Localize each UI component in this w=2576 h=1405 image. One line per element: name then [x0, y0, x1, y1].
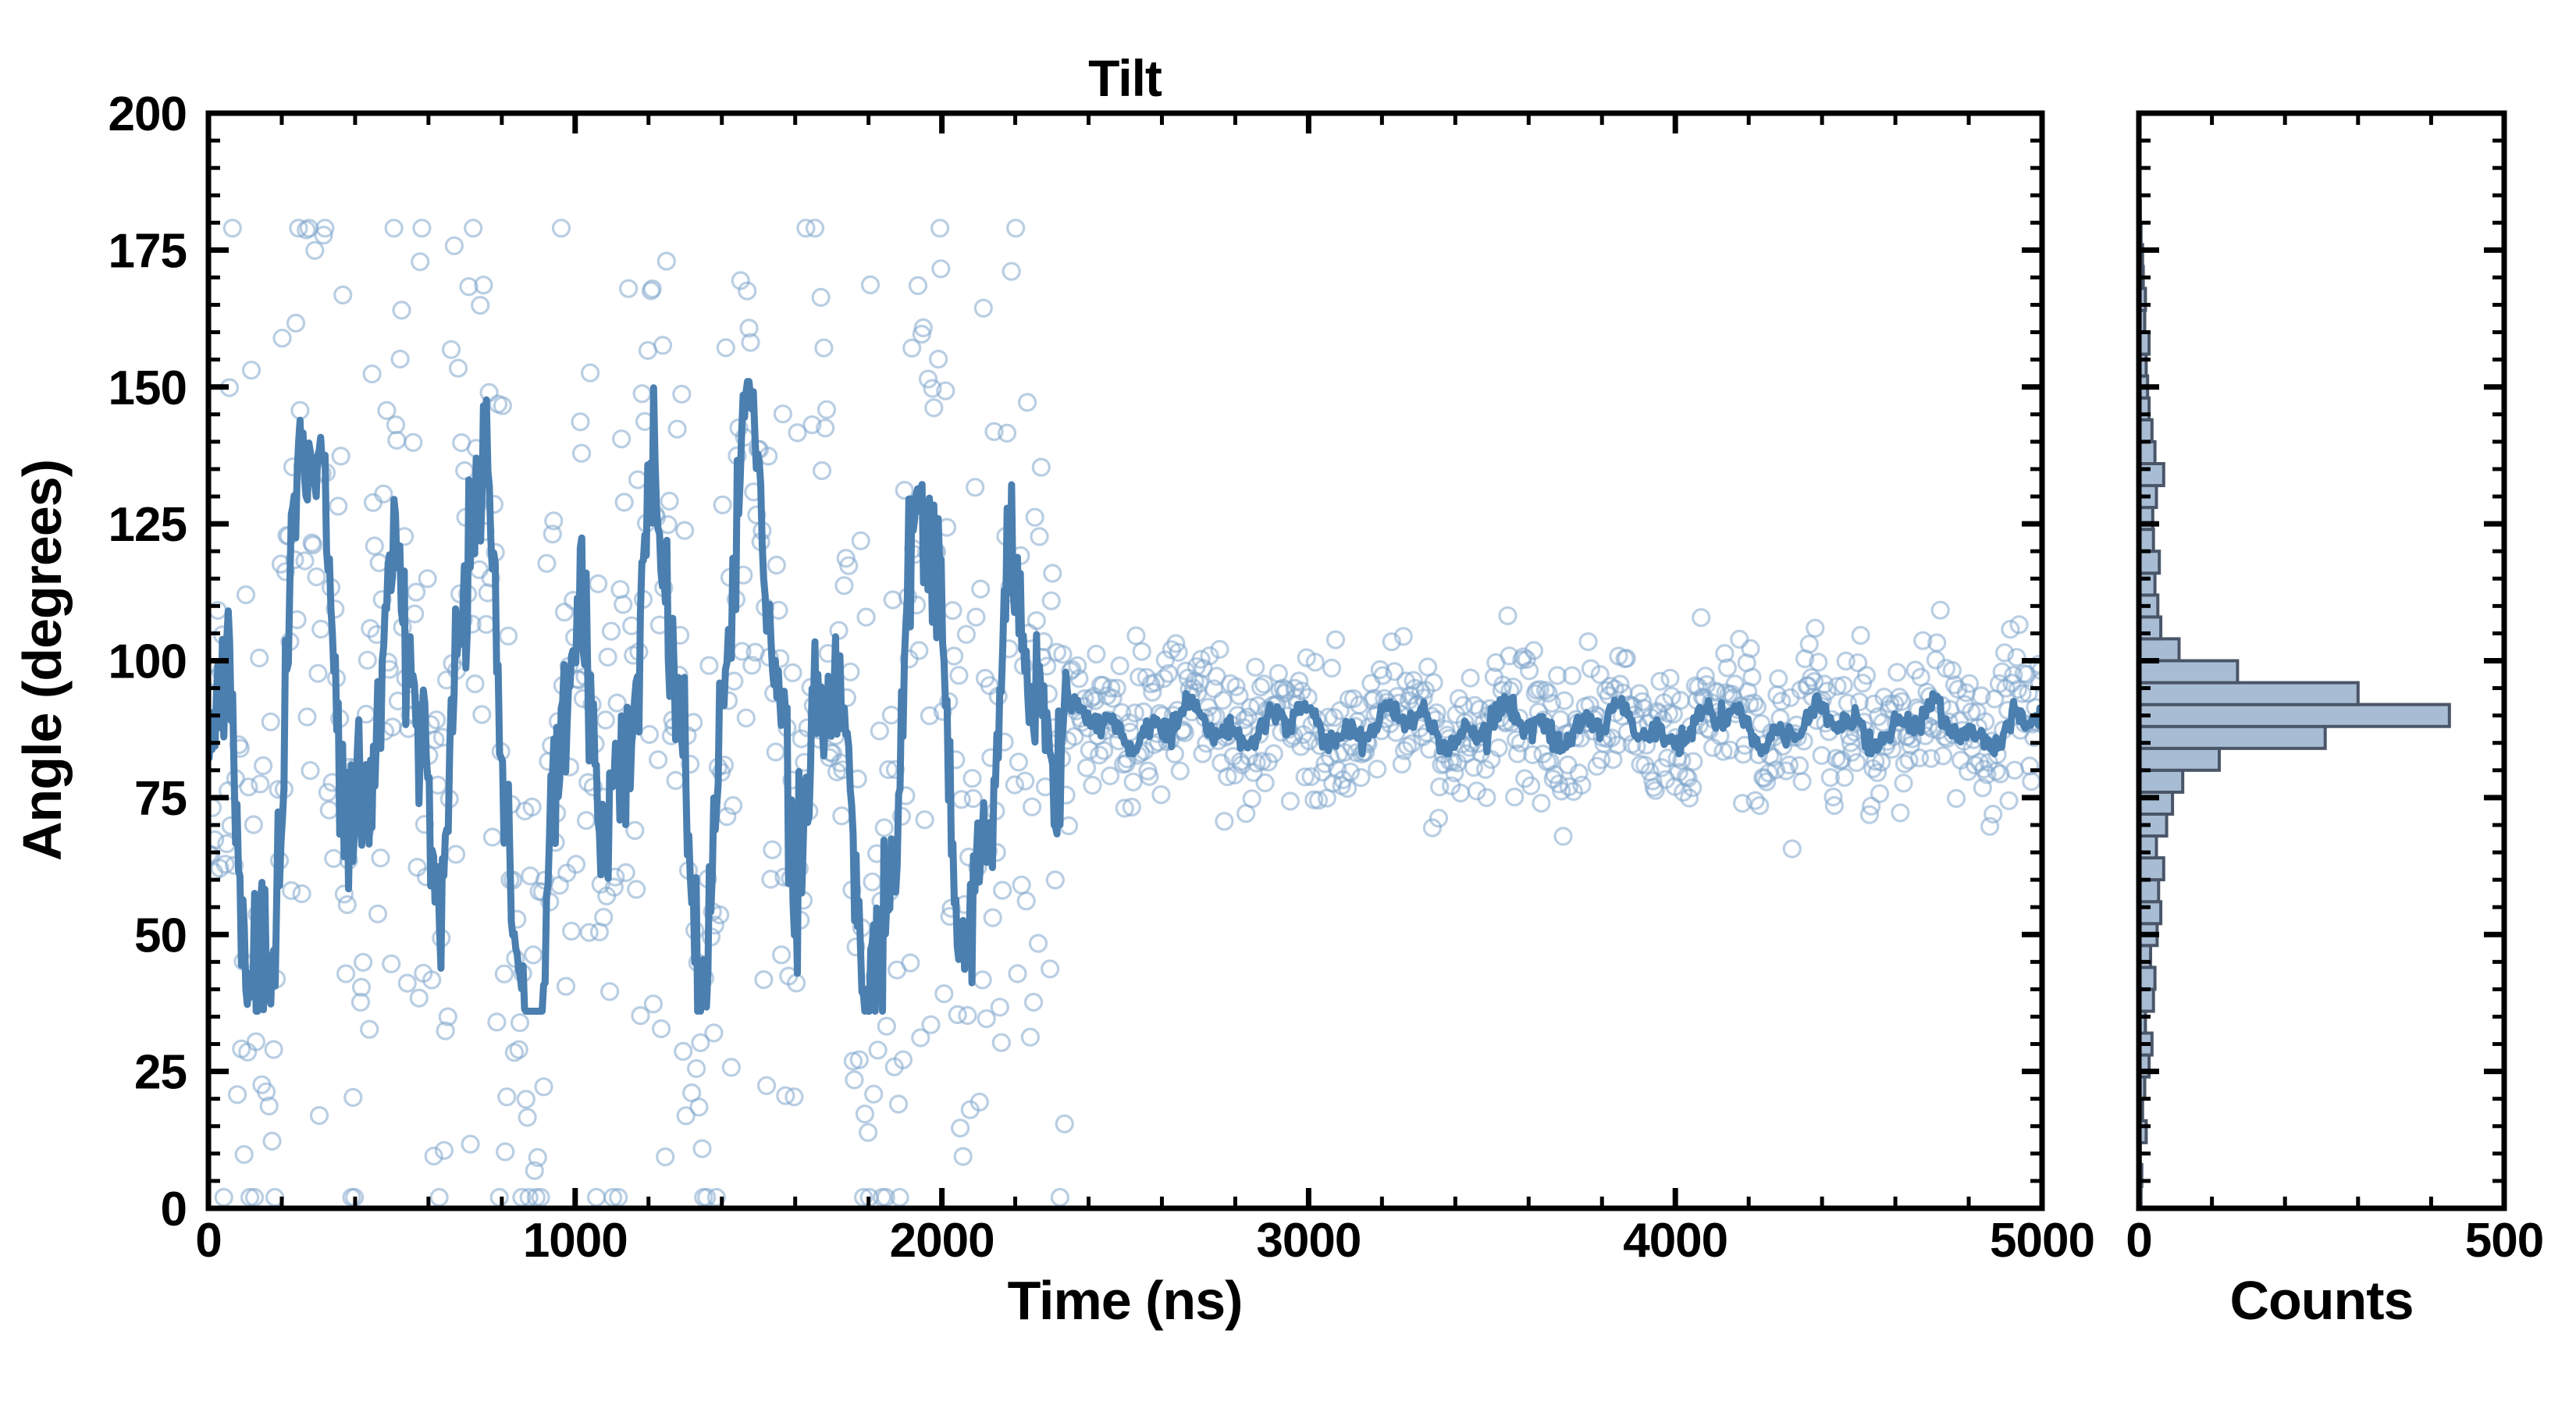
- y-tick-label: 0: [161, 1183, 187, 1236]
- x-tick-label: 2000: [890, 1214, 994, 1268]
- x-tick-label: 5000: [1990, 1214, 2094, 1268]
- x-tick-label: 3000: [1256, 1214, 1361, 1268]
- x-tick-label: 1000: [523, 1214, 628, 1268]
- y-tick-label: 175: [109, 224, 187, 278]
- x-tick-label: 0: [195, 1214, 221, 1268]
- histogram-x-tick-label: 500: [2465, 1214, 2543, 1268]
- histogram-x-tick-label: 0: [2126, 1214, 2151, 1268]
- plot-title: Tilt: [1088, 49, 1162, 107]
- y-tick-label: 200: [109, 87, 187, 141]
- y-tick-label: 25: [134, 1046, 187, 1100]
- plot-svg: 0100020003000400050000255075100125150175…: [0, 0, 2576, 1405]
- y-tick-label: 150: [109, 361, 187, 415]
- figure-root: 0100020003000400050000255075100125150175…: [0, 0, 2576, 1405]
- y-tick-label: 75: [134, 772, 187, 826]
- y-axis-label: Angle (degrees): [12, 460, 73, 861]
- x-axis-label: Time (ns): [1008, 1270, 1243, 1331]
- x-tick-label: 4000: [1623, 1214, 1727, 1268]
- y-tick-label: 50: [134, 909, 187, 962]
- y-tick-label: 100: [109, 635, 187, 689]
- y-tick-label: 125: [109, 498, 187, 552]
- histogram-x-axis-label: Counts: [2229, 1270, 2413, 1331]
